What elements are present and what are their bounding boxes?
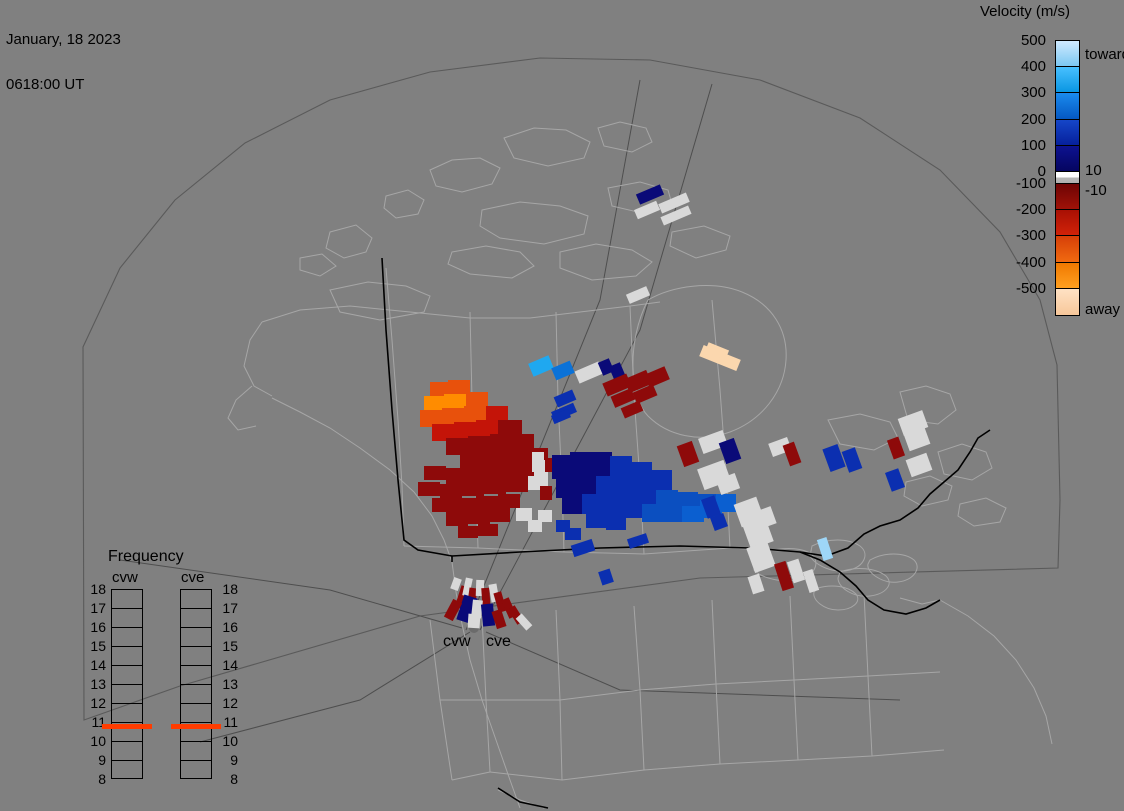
frequency-segment — [181, 609, 211, 628]
frequency-marker-cvw — [102, 724, 152, 729]
velocity-tick-100: 100 — [980, 138, 1046, 153]
timestamp-date: January, 18 2023 — [6, 32, 121, 47]
velocity-tick-500: 500 — [980, 33, 1046, 48]
timestamp-block: January, 18 2023 0618:00 UT — [6, 2, 121, 122]
frequency-legend-title: Frequency — [108, 548, 184, 566]
frequency-scale-label: 8 — [216, 772, 238, 786]
frequency-segment — [112, 704, 142, 723]
site-label-cve: cve — [486, 633, 511, 651]
frequency-segment — [181, 628, 211, 647]
velocity-cell — [478, 524, 498, 536]
frequency-scale-label: 8 — [84, 772, 106, 786]
velocity-cell — [528, 355, 554, 376]
velocity-tick-neg100: -100 — [980, 176, 1046, 191]
velocity-cell — [476, 496, 498, 510]
velocity-cell — [490, 434, 514, 451]
velocity-cell — [842, 447, 863, 472]
velocity-cell — [506, 478, 528, 492]
velocity-cell — [454, 498, 476, 512]
velocity-cell — [446, 512, 468, 526]
velocity-cell — [622, 500, 644, 518]
velocity-band-2 — [1056, 93, 1079, 119]
frequency-scale-label: 10 — [216, 734, 238, 748]
velocity-cell — [512, 462, 534, 478]
frequency-scale-label: 10 — [84, 734, 106, 748]
frequency-scale-label: 14 — [84, 658, 106, 672]
velocity-band-10 — [1056, 289, 1079, 315]
velocity-cell — [906, 453, 933, 477]
velocity-cell — [536, 470, 548, 486]
velocity-tick-neg500: -500 — [980, 281, 1046, 296]
frequency-scale-label: 9 — [216, 753, 238, 767]
frequency-segment — [112, 647, 142, 666]
frequency-segment — [181, 666, 211, 685]
frequency-scale-label: 18 — [84, 582, 106, 596]
velocity-away-label: away — [1085, 302, 1120, 317]
velocity-cell — [636, 184, 664, 204]
frequency-segment — [112, 666, 142, 685]
velocity-cell — [887, 437, 905, 460]
velocity-cell — [440, 484, 462, 498]
frequency-scale-label: 15 — [216, 639, 238, 653]
velocity-cell — [490, 464, 514, 480]
velocity-band-1 — [1056, 67, 1079, 93]
velocity-cell — [552, 455, 572, 479]
velocity-cell — [627, 533, 649, 549]
velocity-band-8 — [1056, 236, 1079, 262]
frequency-segment — [181, 685, 211, 704]
frequency-segment — [112, 590, 142, 609]
frequency-scale-label: 16 — [216, 620, 238, 634]
velocity-band-0 — [1056, 41, 1079, 67]
velocity-cell — [582, 494, 604, 514]
frequency-segment — [181, 742, 211, 761]
velocity-tick-400: 400 — [980, 59, 1046, 74]
velocity-cell — [571, 539, 596, 557]
velocity-cell — [468, 466, 492, 482]
velocity-cell — [540, 486, 552, 500]
velocity-colorbar: Velocity (m/s) 5004003002001000-100-200-… — [975, 0, 1124, 340]
velocity-cell — [817, 537, 833, 561]
frequency-legend: Frequency cvw cve 18171615141312111098 1… — [80, 548, 255, 778]
velocity-cell — [424, 466, 446, 480]
velocity-cell — [468, 510, 490, 524]
frequency-scale-label: 15 — [84, 639, 106, 653]
velocity-cell — [562, 496, 582, 514]
frequency-segment — [181, 704, 211, 723]
velocity-cell — [803, 569, 819, 593]
frequency-segment — [112, 761, 142, 780]
velocity-band-5 — [1056, 172, 1079, 184]
velocity-toward-label: toward — [1085, 47, 1124, 62]
frequency-segment — [181, 590, 211, 609]
frequency-scale-label: 14 — [216, 658, 238, 672]
velocity-cell — [458, 526, 478, 538]
frequency-scale-label: 17 — [84, 601, 106, 615]
velocity-cell — [748, 574, 765, 595]
velocity-cell — [642, 504, 664, 522]
velocity-band-7 — [1056, 210, 1079, 236]
velocity-cell — [528, 520, 542, 532]
site-label-cvw: cvw — [443, 633, 471, 651]
frequency-scale-label: 16 — [84, 620, 106, 634]
velocity-cell — [490, 508, 510, 522]
velocity-cell — [634, 201, 660, 220]
velocity-tick-neg300: -300 — [980, 228, 1046, 243]
velocity-cell — [484, 480, 506, 494]
velocity-cell — [450, 577, 462, 591]
velocity-cell — [468, 614, 481, 629]
frequency-segment — [112, 742, 142, 761]
frequency-scale-label: 13 — [84, 677, 106, 691]
velocity-tick-200: 200 — [980, 112, 1046, 127]
velocity-cell — [462, 482, 484, 496]
frequency-segment — [181, 761, 211, 780]
frequency-segment — [112, 628, 142, 647]
velocity-cell — [586, 514, 608, 528]
frequency-scale-label: 17 — [216, 601, 238, 615]
velocity-band-9 — [1056, 263, 1079, 289]
timestamp-time: 0618:00 UT — [6, 77, 121, 92]
velocity-cell — [516, 508, 532, 521]
velocity-cell — [626, 286, 650, 304]
velocity-cell — [677, 441, 700, 467]
velocity-tick-neg200: -200 — [980, 202, 1046, 217]
velocity-band-3 — [1056, 120, 1079, 146]
velocity-colorbar-title: Velocity (m/s) — [980, 3, 1124, 20]
frequency-scale-label: 12 — [216, 696, 238, 710]
velocity-cell — [498, 494, 520, 508]
velocity-band-4 — [1056, 146, 1079, 172]
velocity-cell — [565, 528, 581, 540]
velocity-tick-300: 300 — [980, 85, 1046, 100]
velocity-cell — [432, 498, 454, 512]
velocity-inner-negative-label: -10 — [1085, 183, 1107, 198]
frequency-scale-label: 13 — [216, 677, 238, 691]
velocity-cell — [532, 452, 544, 472]
velocity-inner-positive-label: 10 — [1085, 163, 1102, 178]
velocity-cell — [598, 568, 614, 585]
velocity-cell — [783, 442, 802, 467]
velocity-cell — [606, 516, 626, 530]
velocity-cell — [822, 444, 845, 472]
frequency-bar-cvw — [111, 589, 143, 779]
velocity-cell — [662, 506, 684, 522]
velocity-cell — [446, 468, 468, 484]
velocity-band-6 — [1056, 184, 1079, 210]
frequency-marker-cve — [171, 724, 221, 729]
frequency-segment — [181, 647, 211, 666]
frequency-segment — [112, 609, 142, 628]
velocity-cell — [418, 482, 440, 496]
frequency-bar-cve — [180, 589, 212, 779]
frequency-segment — [112, 685, 142, 704]
frequency-scale-label: 9 — [84, 753, 106, 767]
velocity-cell — [551, 361, 574, 381]
velocity-cell — [602, 496, 624, 516]
frequency-scale-label: 12 — [84, 696, 106, 710]
velocity-tick-neg400: -400 — [980, 255, 1046, 270]
frequency-scale-label: 18 — [216, 582, 238, 596]
velocity-cell — [556, 476, 578, 498]
radar-map-plot: January, 18 2023 0618:00 UT cvw cve Velo… — [0, 0, 1124, 811]
frequency-column-label-cve: cve — [181, 569, 204, 586]
frequency-column-label-cvw: cvw — [112, 569, 138, 586]
velocity-colorbar-bands — [1055, 40, 1080, 316]
velocity-cell — [885, 468, 905, 492]
